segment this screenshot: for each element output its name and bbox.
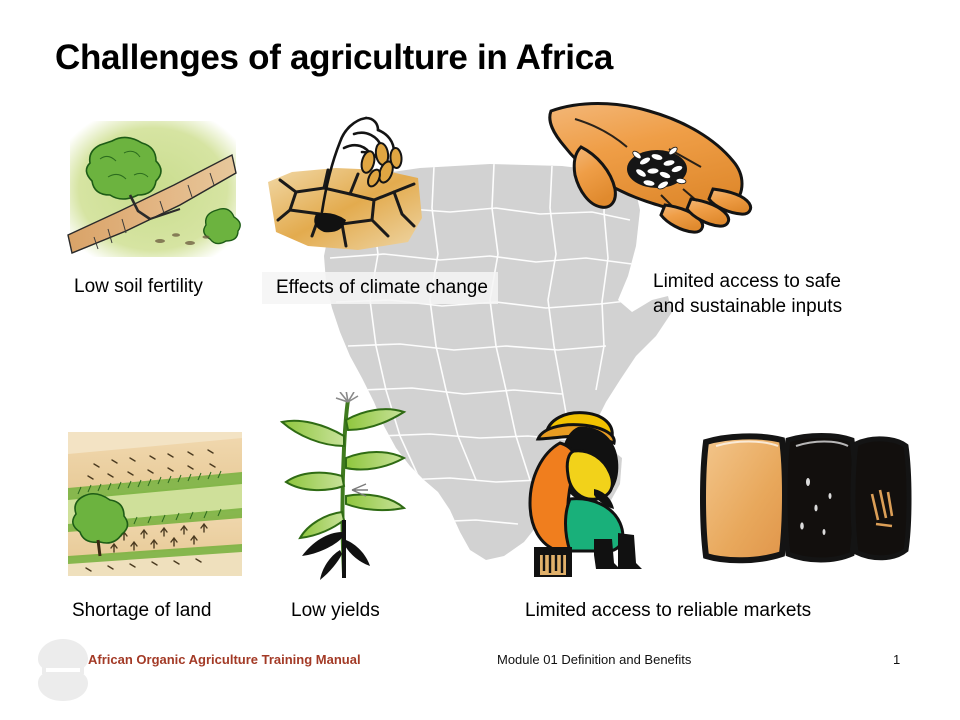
caption-low-soil-fertility: Low soil fertility [74,274,203,299]
image-low-soil-fertility [64,115,242,263]
image-effects-of-climate-change [262,108,452,268]
footer-manual-title: African Organic Agriculture Training Man… [88,652,361,667]
image-thin-maize-plant [268,392,418,582]
page-title: Challenges of agriculture in Africa [55,38,613,78]
footer-module-title: Module 01 Definition and Benefits [497,652,691,667]
image-hand-holding-seeds [545,95,775,255]
caption-limited-access-inputs: Limited access to safe and sustainable i… [653,269,842,319]
caption-limited-access-markets: Limited access to reliable markets [525,598,811,623]
slide-canvas: Challenges of agriculture in Africa [0,0,960,720]
image-market-sacks [696,428,914,580]
image-shortage-of-land [64,428,246,580]
image-seated-farmer [508,405,668,585]
caption-effects-of-climate-change: Effects of climate change [262,272,498,304]
footer-page-number: 1 [893,652,900,667]
caption-low-yields: Low yields [291,598,380,623]
adinkra-logo-icon [32,637,94,703]
caption-shortage-of-land: Shortage of land [72,598,211,623]
